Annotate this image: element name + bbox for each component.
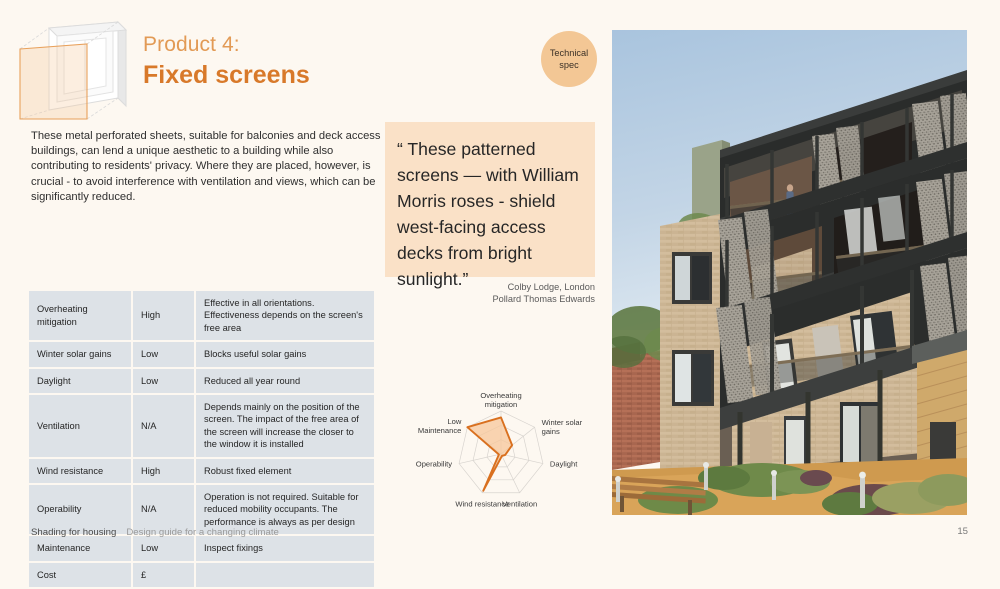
radar-axis-spoke bbox=[501, 454, 543, 464]
quote-attribution-architect: Pollard Thomas Edwards bbox=[385, 293, 595, 305]
badge-line-1: Technical bbox=[550, 48, 588, 58]
badge-line-2: spec bbox=[559, 60, 578, 70]
note-cell: Depends mainly on the position of the sc… bbox=[195, 394, 374, 458]
rating-cell: Low bbox=[132, 341, 195, 367]
table-row: Wind resistance High Robust fixed elemen… bbox=[29, 458, 374, 484]
rating-cell: Low bbox=[132, 368, 195, 394]
criterion-cell: Daylight bbox=[29, 368, 132, 394]
note-cell: Blocks useful solar gains bbox=[195, 341, 374, 367]
table-row: Overheating mitigation High Effective in… bbox=[29, 291, 374, 341]
criterion-cell: Maintenance bbox=[29, 535, 132, 561]
pull-quote-text: “ These patterned screens — with William… bbox=[397, 136, 585, 292]
radar-axis-label: Operability bbox=[416, 460, 452, 469]
criterion-cell: Winter solar gains bbox=[29, 341, 132, 367]
page-title-block: Product 4: Fixed screens bbox=[143, 32, 473, 92]
radar-axis-label: Overheatingmitigation bbox=[480, 391, 521, 409]
table-row: Daylight Low Reduced all year round bbox=[29, 368, 374, 394]
note-cell bbox=[195, 562, 374, 588]
table-row: Cost £ bbox=[29, 562, 374, 588]
footer: Shading for housingDesign guide for a ch… bbox=[31, 527, 279, 538]
specification-table-body: Overheating mitigation High Effective in… bbox=[29, 291, 374, 588]
quote-attribution-project: Colby Lodge, London bbox=[385, 281, 595, 293]
note-cell: Reduced all year round bbox=[195, 368, 374, 394]
performance-radar-chart: OverheatingmitigationWinter solargainsDa… bbox=[395, 378, 607, 518]
radar-axis-label: LowMaintenance bbox=[418, 417, 462, 435]
pull-quote-box: “ These patterned screens — with William… bbox=[385, 122, 595, 277]
radar-axis-spoke bbox=[501, 454, 520, 493]
table-row: Ventilation N/A Depends mainly on the po… bbox=[29, 394, 374, 458]
table-row: Maintenance Low Inspect fixings bbox=[29, 535, 374, 561]
note-cell: Inspect fixings bbox=[195, 535, 374, 561]
technical-spec-badge: Technical spec bbox=[541, 31, 597, 87]
footer-title: Shading for housing bbox=[31, 527, 116, 538]
rating-cell: High bbox=[132, 458, 195, 484]
table-row: Winter solar gains Low Blocks useful sol… bbox=[29, 341, 374, 367]
rating-cell: Low bbox=[132, 535, 195, 561]
product-kicker: Product 4: bbox=[143, 32, 473, 58]
page-title: Fixed screens bbox=[143, 60, 473, 91]
fixed-screen-isometric-illustration bbox=[8, 20, 138, 125]
intro-paragraph: These metal perforated sheets, suitable … bbox=[31, 129, 381, 205]
criterion-cell: Overheating mitigation bbox=[29, 291, 132, 341]
specification-table: Overheating mitigation High Effective in… bbox=[29, 291, 374, 589]
note-cell: Robust fixed element bbox=[195, 458, 374, 484]
quote-attribution: Colby Lodge, London Pollard Thomas Edwar… bbox=[385, 281, 597, 306]
radar-axis-label: Daylight bbox=[550, 460, 578, 469]
radar-axis-label: Wind resistance bbox=[455, 500, 509, 509]
criterion-cell: Wind resistance bbox=[29, 458, 132, 484]
page-number: 15 bbox=[957, 526, 968, 537]
page-root: Product 4: Fixed screens Technical spec … bbox=[0, 0, 1000, 562]
footer-subtitle: Design guide for a changing climate bbox=[126, 527, 279, 538]
rating-cell: £ bbox=[132, 562, 195, 588]
radar-axis-label: Winter solargains bbox=[542, 418, 583, 436]
rating-cell: N/A bbox=[132, 394, 195, 458]
note-cell: Effective in all orientations. Effective… bbox=[195, 291, 374, 341]
project-photograph bbox=[612, 30, 967, 515]
rating-cell: High bbox=[132, 291, 195, 341]
criterion-cell: Ventilation bbox=[29, 394, 132, 458]
criterion-cell: Cost bbox=[29, 562, 132, 588]
